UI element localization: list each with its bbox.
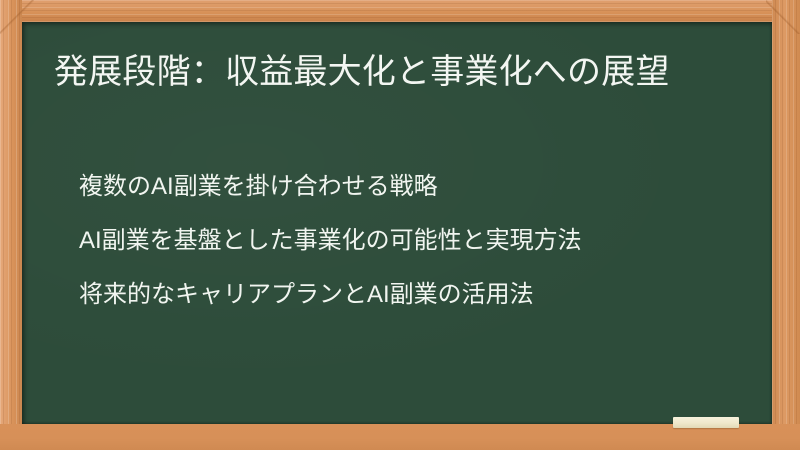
chalkboard-surface: 発展段階：収益最大化と事業化への展望 複数のAI副業を掛け合わせる戦略 AI副業…	[22, 22, 772, 424]
chalkboard-slide: 発展段階：収益最大化と事業化への展望 複数のAI副業を掛け合わせる戦略 AI副業…	[0, 0, 800, 450]
list-item: 将来的なキャリアプランとAI副業の活用法	[79, 282, 749, 308]
frame-rail-left	[0, 0, 22, 450]
list-item: AI副業を基盤とした事業化の可能性と実現方法	[79, 228, 749, 254]
list-item: 複数のAI副業を掛け合わせる戦略	[79, 174, 749, 200]
frame-rail-right	[772, 0, 800, 450]
frame-rail-top	[0, 0, 800, 22]
slide-bullet-list: 複数のAI副業を掛け合わせる戦略 AI副業を基盤とした事業化の可能性と実現方法 …	[79, 174, 749, 308]
slide-title: 発展段階：収益最大化と事業化への展望	[54, 49, 744, 95]
chalk-stick	[673, 417, 739, 428]
